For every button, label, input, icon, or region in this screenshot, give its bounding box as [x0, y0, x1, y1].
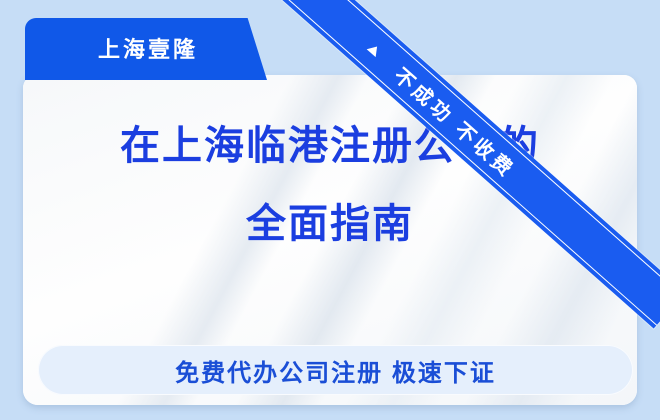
promo-poster: 在上海临港注册公司的 全面指南 免费代办公司注册 极速下证 上海壹隆 不成功 不…	[0, 0, 660, 420]
cta-banner-label: 免费代办公司注册 极速下证	[175, 353, 496, 388]
content-card: 在上海临港注册公司的 全面指南 免费代办公司注册 极速下证	[23, 75, 637, 405]
brand-tab-label: 上海壹隆	[98, 32, 198, 64]
cta-banner[interactable]: 免费代办公司注册 极速下证	[38, 345, 633, 395]
triangle-up-icon	[367, 42, 382, 57]
brand-tab[interactable]: 上海壹隆	[25, 18, 267, 80]
